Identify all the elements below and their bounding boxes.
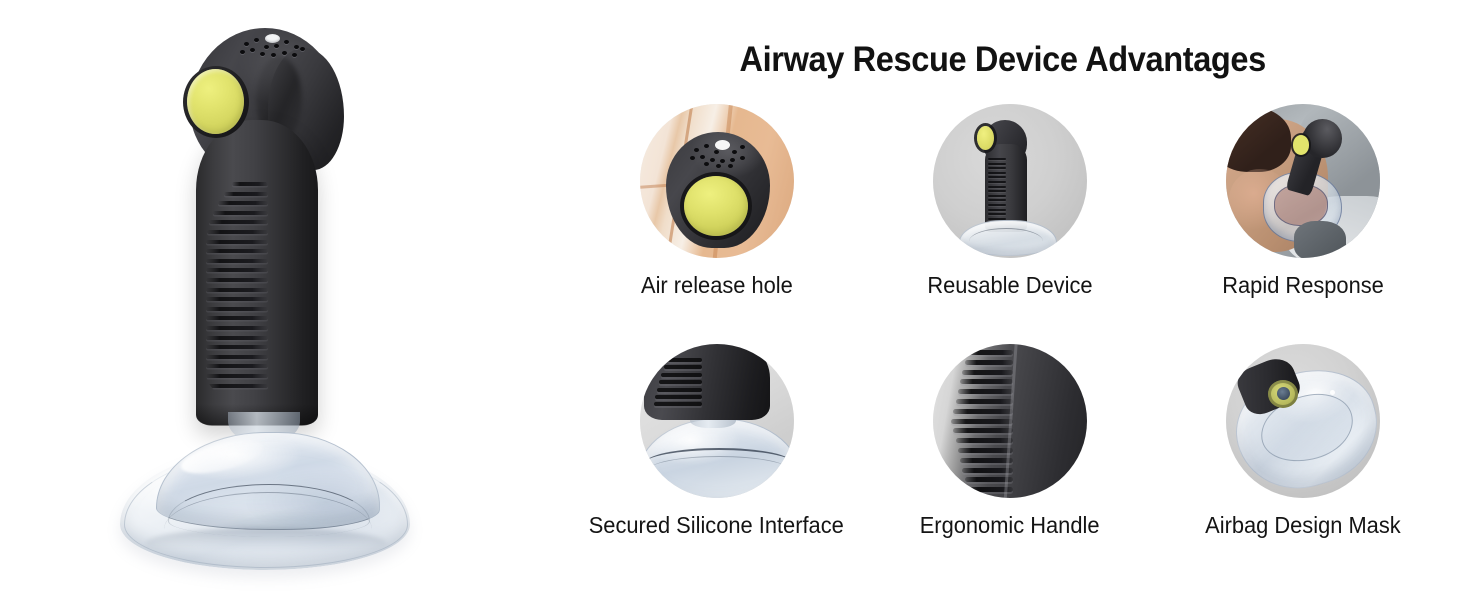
grip-rib [953,409,1013,414]
grip-rib [988,195,1006,197]
vent-hole [704,162,709,166]
grip-rib [988,163,1006,165]
vent-hole [294,45,299,49]
grip-rib [213,211,268,215]
grip-rib [967,350,1013,355]
vent-hole [271,53,276,57]
grip-rib [206,297,268,301]
feature-cell-rapid-response[interactable]: Rapid Response [1157,104,1450,344]
grip-rib [206,249,268,253]
silicone-mask-base [120,432,410,572]
thumb-airbag-design-mask [1226,344,1380,498]
thumb-secured-silicone-interface [640,344,794,498]
vent-highlight [715,140,730,150]
grip-rib [668,358,702,362]
grip-rib [218,201,268,205]
release-button [977,126,994,150]
grip-rib [958,448,1013,453]
release-button [1293,135,1310,155]
feature-label: Rapid Response [1223,272,1385,299]
vent-hole [740,145,745,149]
vent-hole [716,164,721,168]
features-grid: Air release hole Reusable Device [570,104,1450,584]
feature-cell-airbag-design-mask[interactable]: Airbag Design Mask [1157,344,1450,584]
feature-label: Air release hole [641,272,793,299]
vent-hole [260,52,265,56]
grip-rib [206,268,268,272]
grip-rib [224,192,268,196]
device-grip-ribs [988,156,1006,222]
feature-cell-secured-silicone-interface[interactable]: Secured Silicone Interface [570,344,863,584]
vent-hole [274,44,279,48]
grip-rib [956,438,1013,443]
grip-rib [962,370,1013,375]
feature-label: Reusable Device [927,272,1092,299]
air-release-vents [226,32,318,72]
vent-hole [720,159,725,163]
grip-rib [661,373,702,377]
grip-rib [988,190,1006,192]
product-feature-graphic: Airway Rescue Device Advantages [0,0,1464,600]
grip-rib [988,213,1006,215]
vent-highlight [265,34,280,43]
grip-rib [206,316,268,320]
mask-dome-seam [969,228,1043,247]
grip-rib [953,428,1013,433]
grip-rib [960,379,1013,384]
vent-hole [694,148,699,152]
vent-hole [732,150,737,154]
vent-hole [728,164,733,168]
vent-hole [300,47,305,51]
device-grip-ribs [951,344,1013,498]
grip-rib [232,182,268,186]
thumb-rapid-response [1226,104,1380,258]
grip-rib [657,388,702,392]
grip-rib [654,402,702,406]
child-hair [1226,107,1291,172]
caregiver-hand [1294,221,1346,258]
feature-cell-air-release-hole[interactable]: Air release hole [570,104,863,344]
grip-rib [206,288,268,292]
grip-rib [206,374,268,378]
grip-rib [988,181,1006,183]
vent-hole [284,40,289,44]
grip-rib [988,172,1006,174]
grip-rib [988,209,1006,211]
grip-rib [207,230,268,234]
mask-cushion-crease [146,528,386,558]
vent-hole [264,45,269,49]
device-head [1303,119,1342,158]
grip-rib [206,355,268,359]
device-grip-ribs [206,178,268,396]
release-button[interactable] [187,69,244,134]
vent-hole [292,53,297,57]
grip-rib [655,395,702,399]
grip-rib [206,364,268,368]
hero-product-image [0,0,560,600]
grip-rib [988,158,1006,160]
grip-rib [206,278,268,282]
grip-rib [958,389,1013,394]
grip-rib [206,307,268,311]
air-release-vents [686,140,752,166]
vent-hole [690,156,695,160]
feature-label: Secured Silicone Interface [589,512,844,539]
grip-rib [988,204,1006,206]
grip-rib [659,380,702,384]
vent-hole [254,38,259,42]
thumb-ergonomic-handle [933,344,1087,498]
vent-hole [700,155,705,159]
grip-rib [956,399,1013,404]
page-title: Airway Rescue Device Advantages [592,40,1433,80]
grip-rib [988,199,1006,201]
grip-rib [206,326,268,330]
grip-rib [206,336,268,340]
grip-rib [206,384,268,388]
vent-hole [250,48,255,52]
grip-rib [988,176,1006,178]
release-button [684,176,748,236]
grip-rib [206,240,268,244]
device-grip-ribs [654,354,702,410]
grip-rib [664,365,702,369]
thumb-air-release-hole [640,104,794,258]
vent-hole [240,50,245,54]
mask-dome-seam-secondary [648,456,790,485]
vent-hole [714,150,719,154]
grip-rib [209,220,268,224]
grip-rib [206,345,268,349]
grip-rib [988,186,1006,188]
feature-label: Airbag Design Mask [1206,512,1402,539]
grip-rib [960,458,1013,463]
feature-label: Ergonomic Handle [920,512,1100,539]
vent-hole [730,158,735,162]
vent-hole [704,144,709,148]
vent-hole [282,51,287,55]
vent-hole [244,42,249,46]
grip-rib [965,360,1013,365]
vent-hole [710,158,715,162]
feature-cell-reusable-device[interactable]: Reusable Device [863,104,1156,344]
vent-hole [740,156,745,160]
grip-rib [988,167,1006,169]
advantages-panel: Airway Rescue Device Advantages [560,0,1464,600]
grip-rib [206,259,268,263]
thumb-reusable-device [933,104,1087,258]
grip-rib [951,419,1013,424]
feature-cell-ergonomic-handle[interactable]: Ergonomic Handle [863,344,1156,584]
